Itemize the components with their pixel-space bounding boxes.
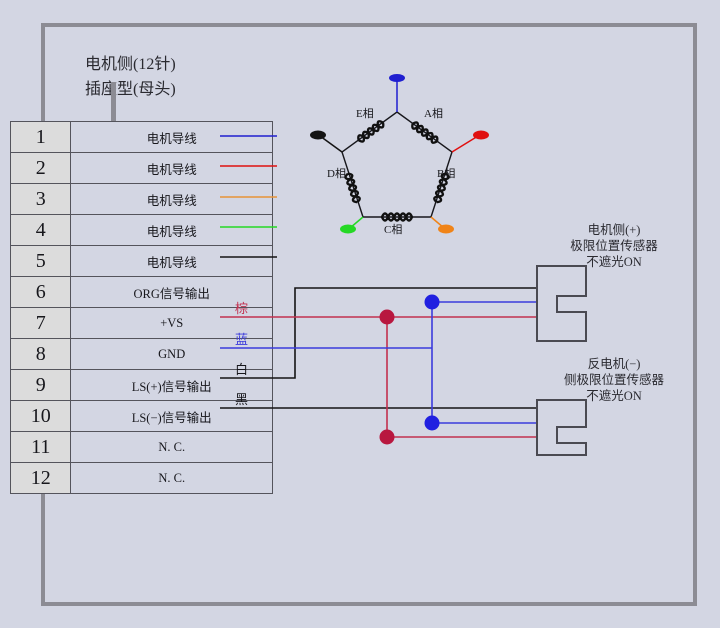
wire-label-black: 黑 <box>235 389 248 408</box>
wire-label-white: 白 <box>235 359 248 378</box>
pentagon-lead-right <box>452 136 478 152</box>
sensor-wiring <box>220 288 537 445</box>
wiring-overlay <box>0 0 720 628</box>
lead-terminal-top <box>389 74 405 82</box>
wire-label-brown: 棕 <box>235 298 248 317</box>
plus-sensor-caption-line3: 不遮光ON <box>554 254 674 270</box>
coil-d-phase <box>345 173 361 204</box>
plus-limit-sensor-caption: 电机侧(+) 极限位置传感器 不遮光ON <box>554 222 674 270</box>
junction-dot-gnd-bottom <box>425 416 440 431</box>
wire-gnd-blue-bottom <box>432 348 537 423</box>
lead-terminal-bottom-left <box>340 225 356 234</box>
lead-terminal-left <box>310 131 326 140</box>
junction-dot-gnd-top <box>425 295 440 310</box>
motor-pentagon <box>310 74 489 234</box>
junction-dot-vs-bottom <box>380 430 395 445</box>
wire-vs-brown-branch <box>387 317 537 437</box>
wire-gnd-blue-top <box>432 302 537 348</box>
minus-sensor-caption-line2: 侧极限位置传感器 <box>554 372 674 388</box>
plus-sensor-caption-line1: 电机侧(+) <box>554 222 674 238</box>
junction-dot-vs-top <box>380 310 395 325</box>
lead-terminal-right <box>473 131 489 140</box>
pentagon-lead-left <box>320 136 342 152</box>
wire-label-blue: 蓝 <box>235 329 248 348</box>
motor-wire-bundle <box>220 136 277 257</box>
minus-limit-sensor-body <box>537 400 586 455</box>
phase-label-a: A相 <box>424 105 443 121</box>
phase-label-c: C相 <box>384 221 402 237</box>
phase-label-b: B相 <box>437 165 455 181</box>
phase-label-e: E相 <box>356 105 374 121</box>
phase-label-d: D相 <box>327 165 346 181</box>
minus-sensor-caption-line3: 不遮光ON <box>554 388 674 404</box>
minus-sensor-caption-line1: 反电机(−) <box>554 356 674 372</box>
minus-limit-sensor-caption: 反电机(−) 侧极限位置传感器 不遮光ON <box>554 356 674 404</box>
plus-sensor-caption-line2: 极限位置传感器 <box>554 238 674 254</box>
diagram-root: 电机侧(12针) 插座型(母头) 1电机导线2电机导线3电机导线4电机导线5电机… <box>0 0 720 628</box>
lead-terminal-bottom-right <box>438 225 454 234</box>
plus-limit-sensor-body <box>537 266 586 341</box>
